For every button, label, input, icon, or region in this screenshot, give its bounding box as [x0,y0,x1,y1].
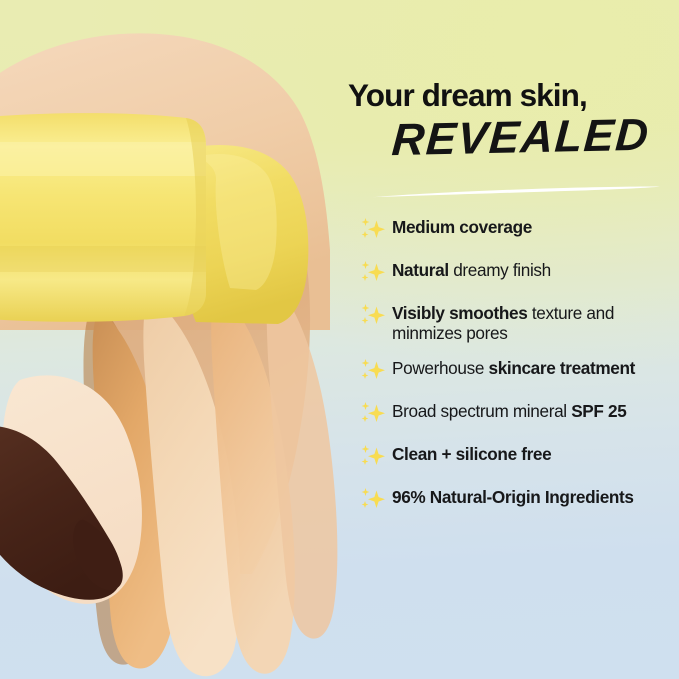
list-item-text: 96% Natural-Origin Ingredients [392,484,634,507]
list-item-text: Visibly smoothes texture and minmizes po… [392,300,679,343]
benefits-list: Medium coverage Natural dreamy finish [358,214,679,527]
list-item-text: Broad spectrum mineral SPF 25 [392,398,626,421]
list-item: Medium coverage [358,214,679,245]
list-item-regular: dreamy finish [449,260,551,280]
sparkle-icon [358,356,388,386]
list-item-bold: Visibly smoothes [392,303,527,323]
headline-block: Your dream skin, REVEALED [348,80,679,163]
list-item-bold: Clean + silicone free [392,444,551,464]
list-item-regular: Broad spectrum mineral [392,401,571,421]
list-item: Broad spectrum mineral SPF 25 [358,398,679,429]
list-item-bold: 96% Natural-Origin Ingredients [392,487,634,507]
list-item-text: Natural dreamy finish [392,257,551,280]
list-item: Visibly smoothes texture and minmizes po… [358,300,679,343]
list-item: Natural dreamy finish [358,257,679,288]
product-artwork [0,0,360,679]
list-item: 96% Natural-Origin Ingredients [358,484,679,515]
list-item-text: Powerhouse skincare treatment [392,355,635,378]
product-tube-shadow [0,246,206,272]
product-marketing-image: Your dream skin, REVEALED Medium coverag… [0,0,679,679]
list-item-text: Medium coverage [392,214,532,237]
list-item: Powerhouse skincare treatment [358,355,679,386]
product-tube-gloss [0,142,206,176]
list-item-bold: skincare treatment [488,358,635,378]
headline-line-1: Your dream skin, [348,80,679,112]
sparkle-icon [358,258,388,288]
list-item: Clean + silicone free [358,441,679,472]
brushstroke-underline-icon [370,185,662,198]
marketing-copy: Your dream skin, REVEALED Medium coverag… [348,0,679,679]
headline-line-2: REVEALED [347,111,679,163]
sparkle-icon [358,485,388,515]
list-item-bold: Medium coverage [392,217,532,237]
sparkle-icon [358,399,388,429]
sparkle-icon [358,442,388,472]
list-item-text: Clean + silicone free [392,441,551,464]
list-item-regular: Powerhouse [392,358,488,378]
list-item-bold: Natural [392,260,449,280]
list-item-bold: SPF 25 [571,401,626,421]
sparkle-icon [358,301,388,331]
sparkle-icon [358,215,388,245]
